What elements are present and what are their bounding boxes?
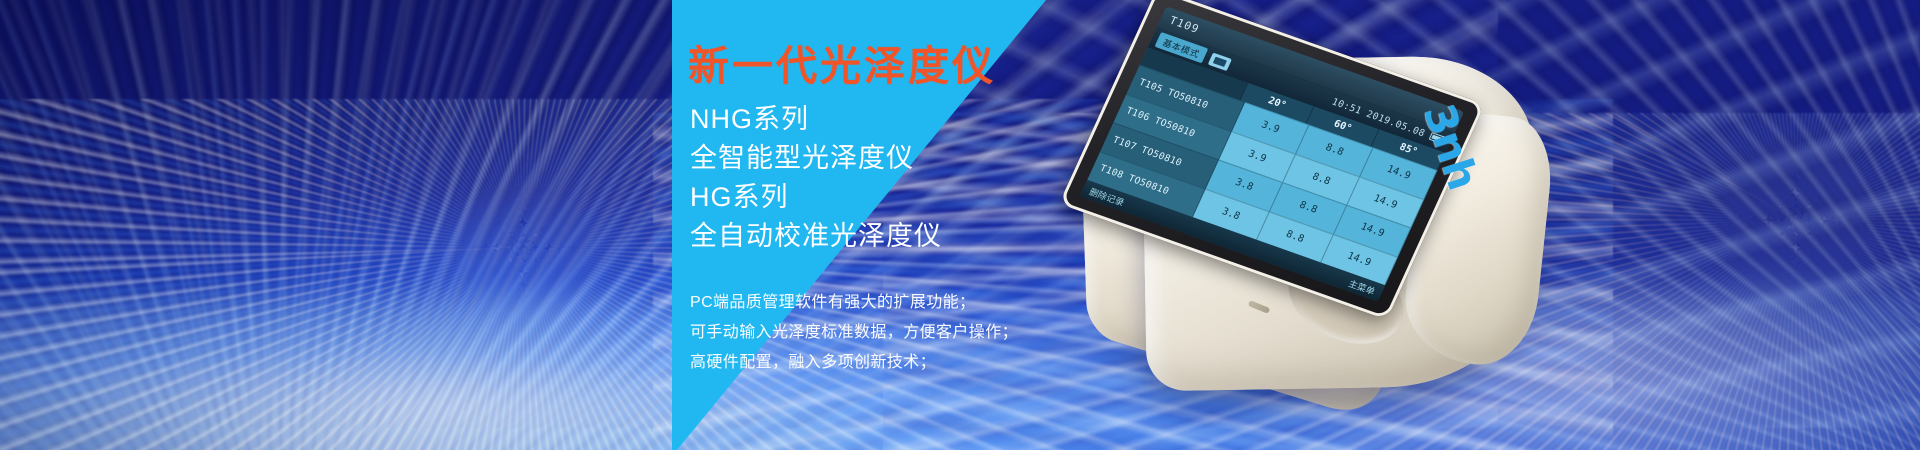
aperture-icon: [1208, 52, 1232, 71]
subline-nhg-desc: 全智能型光泽度仪: [690, 136, 914, 175]
feature-line-3: 高硬件配置，融入多项创新技术；: [690, 348, 936, 372]
promo-banner: 新一代光泽度仪 NHG系列 全智能型光泽度仪 HG系列 全自动校准光泽度仪 PC…: [0, 0, 1920, 450]
headline: 新一代光泽度仪: [688, 44, 996, 89]
subline-hg-series: HG系列: [690, 175, 789, 214]
feature-line-2: 可手动输入光泽度标准数据，方便客户操作；: [690, 318, 1018, 342]
gloss-meter-device: T109 基本模式 10:51 2019.05.08 20° 60° 85°: [1040, 18, 1540, 430]
subline-hg-desc: 全自动校准光泽度仪: [690, 214, 942, 253]
subline-nhg-series: NHG系列: [690, 97, 809, 136]
feature-line-1: PC端品质管理软件有强大的扩展功能；: [690, 288, 975, 312]
